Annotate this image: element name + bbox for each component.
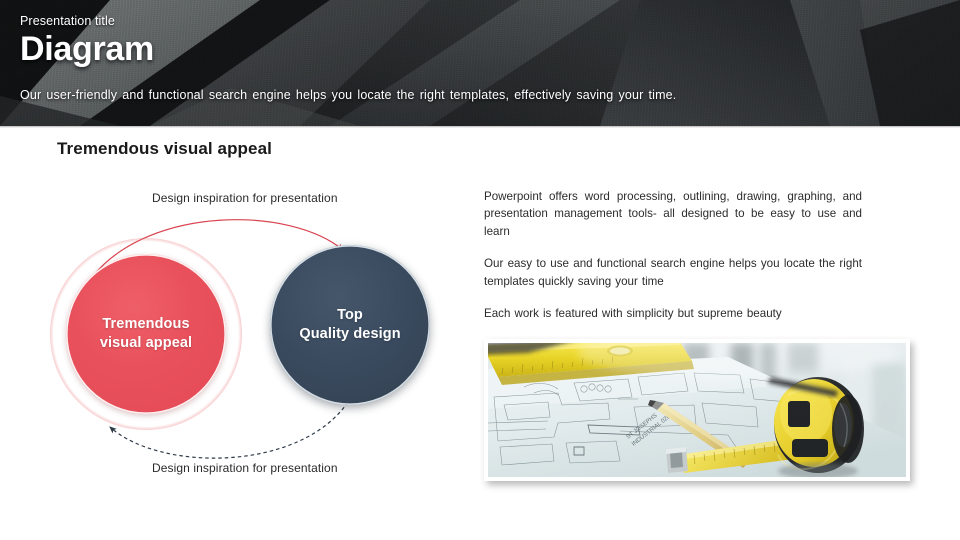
node-red-line2: visual appeal [100,334,192,353]
blueprint-photo-frame: ST JOSEPHS INDUSTRIAL 0200 [484,339,910,481]
node-navy-label: Top Quality design [299,306,400,344]
presentation-title: Presentation title [20,14,154,28]
node-tremendous-visual-appeal[interactable]: Tremendous visual appeal [50,238,242,430]
cycle-diagram: Design inspiration for presentation Desi… [0,180,470,490]
arrow-label-bottom: Design inspiration for presentation [152,461,338,475]
page-title: Diagram [20,31,154,68]
node-navy-line1: Top [299,306,400,325]
body-paragraph-2: Our easy to use and functional search en… [484,255,862,290]
header-banner: Presentation title Diagram Our user-frie… [0,0,960,126]
header-subtitle: Our user-friendly and functional search … [20,88,676,102]
node-navy-circle[interactable]: Top Quality design [270,245,430,405]
node-red-circle[interactable]: Tremendous visual appeal [66,254,226,414]
arrow-label-top: Design inspiration for presentation [152,191,338,205]
blueprint-photo: ST JOSEPHS INDUSTRIAL 0200 [488,343,906,477]
body-paragraph-3: Each work is featured with simplicity bu… [484,305,862,322]
node-navy-line2: Quality design [299,325,400,344]
body-text-column: Powerpoint offers word processing, outli… [484,188,862,322]
node-top-quality-design[interactable]: Top Quality design [270,245,430,405]
section-heading: Tremendous visual appeal [57,139,272,159]
blueprint-photo-graphic: ST JOSEPHS INDUSTRIAL 0200 [488,343,906,477]
header-text-group: Presentation title Diagram [20,14,154,68]
body-paragraph-1: Powerpoint offers word processing, outli… [484,188,862,240]
header-divider [0,126,960,128]
node-red-line1: Tremendous [100,315,192,334]
slide: Presentation title Diagram Our user-frie… [0,0,960,540]
node-red-label: Tremendous visual appeal [100,315,192,353]
